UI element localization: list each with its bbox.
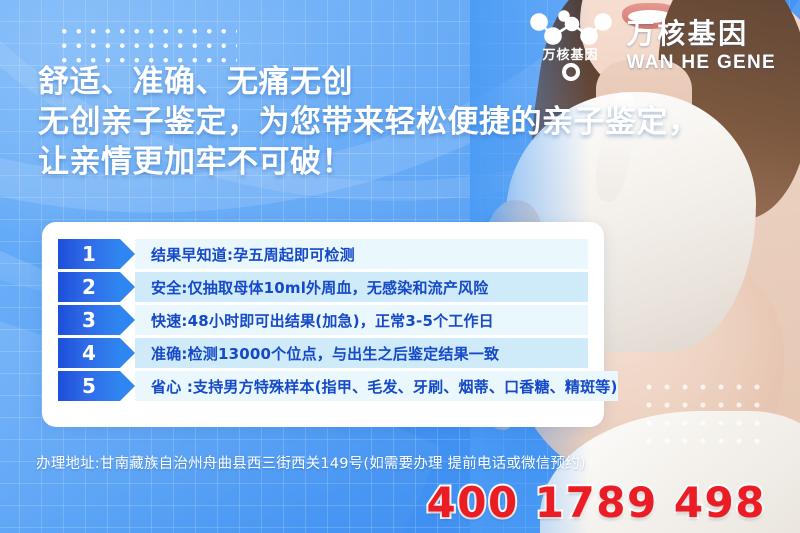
headline-line-3: 让亲情更加牢不可破！ [38, 142, 700, 182]
feature-text: 省心 :支持男方特殊样本(指甲、毛发、牙刷、烟蒂、口香糖、精斑等) [135, 371, 618, 401]
feature-text: 安全:仅抽取母体10ml外周血，无感染和流产风险 [135, 272, 588, 302]
brand-text: 万核基因 WAN HE GENE [627, 20, 776, 72]
molecule-dna-icon: 万核基因 [523, 8, 619, 84]
feature-number-badge: 3 [58, 305, 120, 335]
feature-number-badge: 5 [58, 371, 120, 401]
promotional-poster: 万核基因 万核基因 WAN HE GENE 舒适、准确、无痛无创 无创亲子鉴定，… [0, 0, 800, 533]
feature-card: 1 结果早知道:孕五周起即可检测 2 安全:仅抽取母体10ml外周血，无感染和流… [42, 222, 604, 427]
dot-pattern-bottom-right [640, 378, 760, 453]
feature-text: 快速:48小时即可出结果(加急)，正常3-5个工作日 [135, 305, 588, 335]
list-item: 5 省心 :支持男方特殊样本(指甲、毛发、牙刷、烟蒂、口香糖、精斑等) [58, 371, 588, 401]
office-address: 办理地址:甘南藏族自治州舟曲县西三街西关149号(如需要办理 提前电话或微信预约… [36, 452, 586, 473]
feature-list: 1 结果早知道:孕五周起即可检测 2 安全:仅抽取母体10ml外周血，无感染和流… [58, 239, 588, 404]
feature-number-badge: 1 [58, 239, 120, 269]
list-item: 4 准确:检测13000个位点，与出生之后鉴定结果一致 [58, 338, 588, 368]
list-item: 3 快速:48小时即可出结果(加急)，正常3-5个工作日 [58, 305, 588, 335]
list-item: 1 结果早知道:孕五周起即可检测 [58, 239, 588, 269]
feature-text: 准确:检测13000个位点，与出生之后鉴定结果一致 [135, 338, 588, 368]
headline-line-2: 无创亲子鉴定，为您带来轻松便捷的亲子鉴定， [38, 102, 700, 142]
brand-logo[interactable]: 万核基因 万核基因 WAN HE GENE [523, 8, 776, 84]
brand-name-en: WAN HE GENE [627, 53, 776, 72]
feature-number-badge: 2 [58, 272, 120, 302]
contact-phone-number[interactable]: 400 1789 498 [427, 478, 766, 527]
feature-number-badge: 4 [58, 338, 120, 368]
list-item: 2 安全:仅抽取母体10ml外周血，无感染和流产风险 [58, 272, 588, 302]
brand-name-cn: 万核基因 [627, 20, 776, 48]
logo-mark-label: 万核基因 [529, 44, 613, 63]
feature-text: 结果早知道:孕五周起即可检测 [135, 239, 588, 269]
